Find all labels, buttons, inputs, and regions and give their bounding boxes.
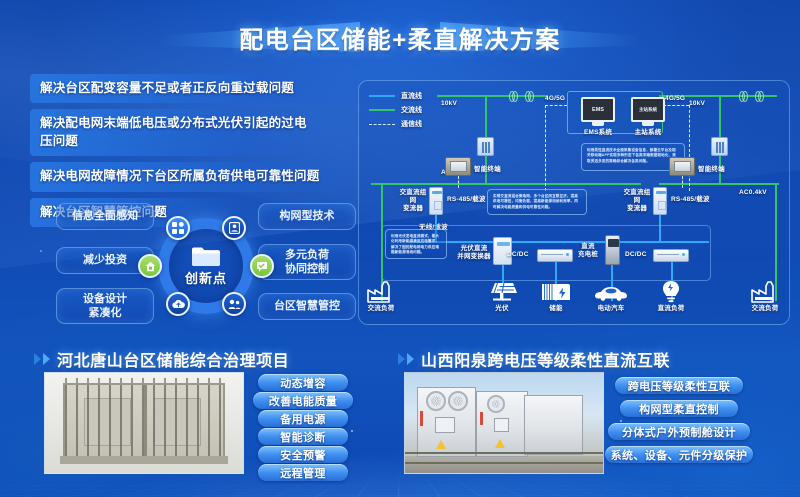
project-tag-right[interactable]: 跨电压等级柔性互联 (615, 377, 743, 394)
project-header-left: 河北唐山台区储能综合治理项目 (34, 347, 289, 371)
hub-node-person-icon[interactable] (222, 216, 246, 240)
bottom-node-pv (487, 281, 517, 301)
bottom-label-ac-load-left: 交流负荷 (359, 305, 403, 313)
disconnector-left-1 (509, 91, 518, 100)
dcdc-left (537, 249, 573, 262)
transformer-left (477, 137, 494, 156)
bottom-label-dc-load: 直流负荷 (649, 305, 693, 313)
hub-node-people-icon[interactable] (222, 292, 246, 316)
issue-item: 解决电网故障情况下台区所属负荷供电可靠性问题 (30, 162, 350, 191)
project-header-right: 山西阳泉跨电压等级柔性直流互联 (398, 347, 670, 371)
people-icon (228, 299, 241, 310)
spark-dot (620, 420, 622, 422)
check-chat-icon (256, 261, 268, 272)
callout-pv: 利用光伏发电直流模式，最大化利用新能源满足充电需求，解决了困扰配电网电力供应难题… (385, 229, 447, 259)
fan-icon (487, 395, 505, 413)
hub-node-grid-icon[interactable] (166, 216, 190, 240)
project-title-left: 河北唐山台区储能综合治理项目 (57, 347, 289, 371)
electric-car-icon (593, 284, 629, 301)
bottom-label-pv: 光伏 (480, 305, 524, 313)
ems-screen-label: EMS (592, 107, 604, 113)
legend-swatch-dc (369, 95, 395, 97)
spark-dot (40, 250, 42, 252)
wire-left-hv-drop (485, 95, 487, 137)
voltage-label-left: 10kV (441, 100, 457, 107)
legend-swatch-comm (369, 124, 395, 125)
hub-chip-right-1[interactable]: 构网型技术 (258, 203, 356, 230)
warning-triangle-icon (495, 439, 505, 448)
hub-node-check-chat-icon[interactable] (250, 254, 274, 278)
innovation-hub: 信息全面感知 减少投资 设备设计 紧凑化 构网型技术 多元负荷 协同控制 台区智… (56, 200, 356, 332)
factory-icon (367, 281, 395, 303)
converter-right-label: 交直流组网 变流器 (621, 189, 653, 213)
ems-monitor: EMS (581, 97, 615, 122)
factory-icon (751, 281, 779, 303)
rs485-label-right: RS-485/载波 (671, 193, 710, 203)
issue-item: 解决配电网末端低电压或分布式光伏引起的过电压问题 (30, 109, 320, 156)
cage-top-spikes (65, 378, 223, 385)
fan-icon (448, 391, 468, 411)
comm-right-horizontal (663, 105, 689, 106)
dc-charging-pile (605, 235, 620, 265)
legend-swatch-ac (369, 109, 395, 111)
fan-icon (426, 391, 446, 411)
master-screen-label: 主站系统 (639, 107, 657, 113)
bottom-node-storage (541, 281, 571, 301)
ems-label: EMS系统 (575, 129, 621, 137)
project-title-right: 山西阳泉跨电压等级柔性直流互联 (421, 347, 670, 371)
smart-terminal-left (445, 157, 471, 176)
issue-item: 解决台区配变容量不足或者正反向重过载问题 (30, 74, 350, 103)
comm-terminal-right (682, 176, 683, 188)
bottom-label-storage: 储能 (534, 305, 578, 313)
comm-right-vertical (689, 105, 690, 191)
diagram-legend: 直流线 交流线 通信线 (369, 91, 422, 133)
hub-node-cloud-icon[interactable] (166, 292, 190, 316)
pv-converter-label: 光伏直流 并网变换器 (455, 245, 493, 261)
arrow-icon (398, 353, 414, 365)
legend-label-comm: 通信线 (401, 119, 422, 129)
disconnector-left-2 (525, 91, 534, 100)
control-panel (435, 417, 455, 433)
wire-right-hv-drop (719, 95, 721, 137)
cage-base (60, 456, 228, 464)
cloud-icon (172, 299, 185, 309)
master-label: 主站系统 (625, 129, 671, 137)
home-lock-icon (145, 261, 156, 272)
project-tag-left[interactable]: 改善电能质量 (253, 392, 353, 409)
lightbulb-icon (659, 280, 683, 303)
busbar-right-lv (659, 183, 779, 185)
warning-stripe (480, 412, 483, 425)
smart-terminal-right-label: 智能终端 (698, 163, 725, 173)
cage-center-post (144, 385, 147, 458)
bottom-node-ev (593, 284, 629, 301)
project-tag-left[interactable]: 备用电源 (258, 410, 348, 427)
bottom-label-ac-load-right: 交流负荷 (743, 305, 787, 313)
comm-left-horizontal (545, 105, 567, 106)
project-tag-right[interactable]: 构网型柔直控制 (620, 400, 738, 417)
project-tag-left[interactable]: 智能诊断 (258, 428, 348, 445)
grid-icon (172, 222, 184, 234)
master-monitor: 主站系统 (631, 97, 665, 122)
bottom-node-ac-load-right (751, 281, 779, 303)
bottom-label-ev: 电动汽车 (589, 305, 633, 313)
dcdc-left-label: DC/DC (507, 251, 529, 258)
legend-label-ac: 交流线 (401, 105, 422, 115)
legend-item-ac: 交流线 (369, 105, 422, 115)
dcdc-right (653, 249, 689, 262)
converter-left (429, 187, 443, 215)
warning-triangle-icon (436, 440, 446, 449)
battery-storage-icon (541, 281, 571, 301)
warning-stripe (420, 411, 423, 426)
arrow-icon (34, 353, 50, 365)
prefab-container-3 (524, 395, 583, 455)
project-tag-right[interactable]: 分体式户外预制舱设计 (608, 423, 750, 440)
callout-microgrid: 实现交直流混合微电网，多个台区间互联互济，提高供电可靠性，均衡负载，提高新能源消… (487, 189, 587, 215)
hub-node-home-lock-icon[interactable] (138, 254, 162, 278)
hub-chip-left-3[interactable]: 设备设计 紧凑化 (56, 288, 154, 324)
person-icon (229, 222, 240, 234)
converter-right (653, 187, 667, 215)
dcdc-right-label: DC/DC (625, 251, 647, 258)
hub-center-label: 创新点 (163, 268, 249, 287)
page-title: 配电台区储能+柔直解决方案 (223, 20, 577, 55)
comm-terminal-left (458, 176, 459, 188)
hub-chip-right-3[interactable]: 台区智慧管控 (258, 293, 356, 320)
disconnector-right-2 (755, 91, 764, 100)
prefab-container-1 (417, 387, 476, 457)
project-tag-left[interactable]: 动态增容 (258, 374, 348, 391)
legend-item-comm: 通信线 (369, 119, 422, 129)
project-photo-right (404, 372, 604, 474)
spark-dot (351, 430, 353, 432)
rs485-label-left: RS-485/载波 (447, 193, 486, 203)
hub-center: 创新点 (163, 245, 249, 287)
busbar-left-lv (371, 183, 641, 185)
fence-rail (405, 452, 603, 454)
fence-rail (405, 462, 603, 464)
project-photo-left (44, 372, 244, 474)
voltage-label-right: 10kV (689, 100, 705, 107)
project-tag-left[interactable]: 安全预警 (258, 446, 348, 463)
project-tag-right[interactable]: 系统、设备、元件分级保护 (605, 446, 753, 463)
title-bar: 配电台区储能+柔直解决方案 (0, 14, 800, 60)
converter-left-label: 交直流组网 变流器 (397, 189, 429, 213)
comm-left-vertical (545, 105, 546, 191)
lv-label-right: AC0.4kV (739, 189, 767, 196)
hub-chip-left-1[interactable]: 信息全面感知 (56, 203, 154, 230)
prefab-container-2 (476, 391, 527, 457)
project-tag-left[interactable]: 远程管理 (258, 464, 348, 481)
equipment-cage (63, 383, 225, 460)
comm-label-right: 4G/5G (665, 95, 685, 102)
folder-icon (191, 245, 221, 267)
transformer-right (711, 137, 728, 156)
legend-label-dc: 直流线 (401, 91, 422, 101)
charging-pile-label: 直流 充电桩 (573, 243, 603, 259)
smart-terminal-left-label: 智能终端 (474, 163, 501, 173)
smart-terminal-right (669, 157, 695, 176)
photo-ground (405, 456, 603, 473)
comm-label-left: 4G/5G (545, 95, 565, 102)
technical-diagram: 直流线 交流线 通信线 10kV AC0.4kV 10kV AC0.4kV EM… (358, 80, 790, 325)
legend-item-dc: 直流线 (369, 91, 422, 101)
solar-panel-icon (487, 281, 517, 301)
disconnector-right-1 (739, 91, 748, 100)
bottom-node-dc-load (659, 280, 683, 303)
bottom-node-ac-load-left (367, 281, 395, 303)
control-panel (494, 418, 509, 432)
